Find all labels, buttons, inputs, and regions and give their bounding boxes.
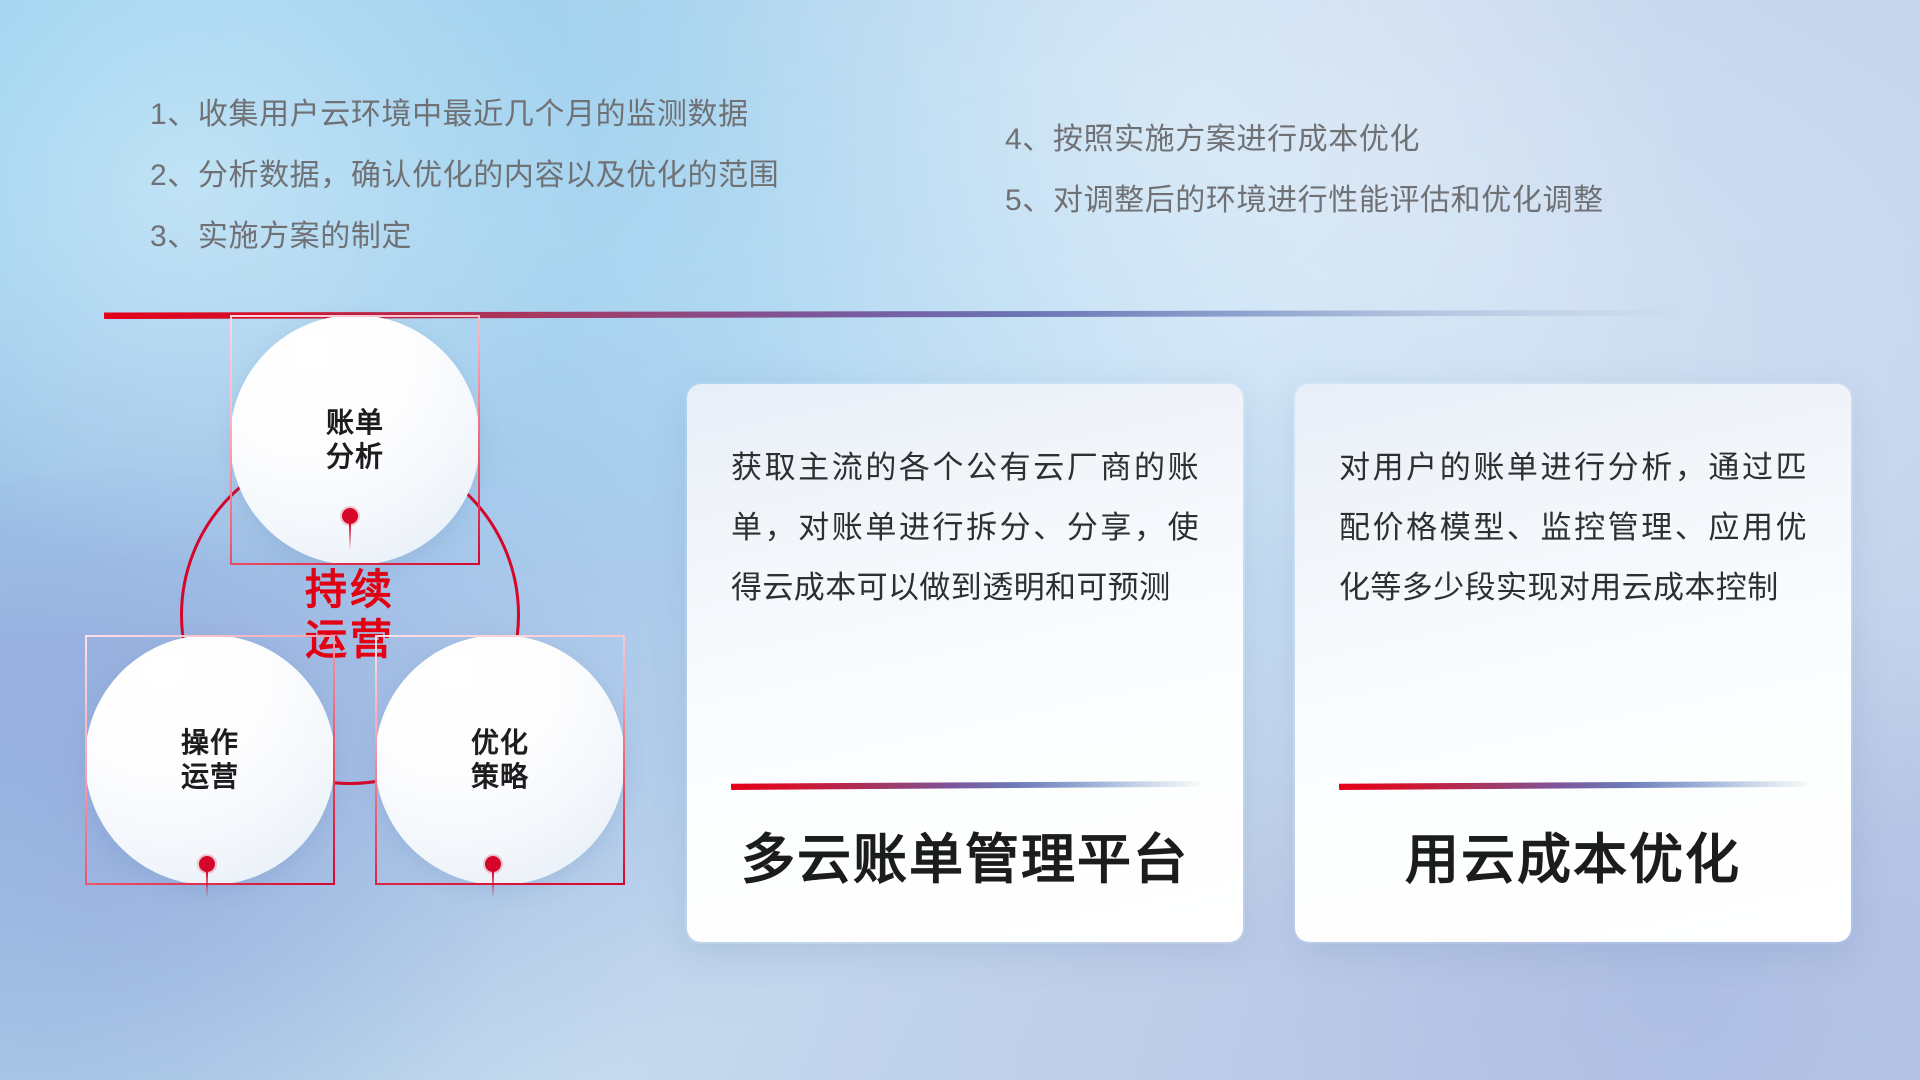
continuous-operation-diagram: 持续 运营 账单 分析 操作 运营 优化 策略: [95, 340, 655, 960]
info-card-multicloud-billing[interactable]: 获取主流的各个公有云厂商的账单，对账单进行拆分、分享，使得云成本可以做到透明和可…: [685, 382, 1245, 944]
node-marker-dot-top: [342, 508, 358, 524]
node-bubble-billing-analysis-line-2: 分析: [326, 440, 384, 474]
info-card-cost-optimization-body: 对用户的账单进行分析，通过匹配价格模型、监控管理、应用优化等多少段实现对用云成本…: [1339, 438, 1807, 617]
info-card-multicloud-billing-body: 获取主流的各个公有云厂商的账单，对账单进行拆分、分享，使得云成本可以做到透明和可…: [731, 438, 1199, 617]
node-bubble-operations-line-1: 操作: [181, 726, 239, 760]
node-bubble-optimization-strategy-line-1: 优化: [471, 726, 529, 760]
step-item-1: 1、收集用户云环境中最近几个月的监测数据: [150, 100, 779, 130]
node-bubble-optimization-strategy-line-2: 策略: [471, 760, 529, 794]
step-item-2: 2、分析数据，确认优化的内容以及优化的范围: [150, 161, 779, 191]
info-card-multicloud-billing-accent: [731, 781, 1205, 790]
info-card-cost-optimization-accent: [1339, 781, 1813, 790]
node-bubble-optimization-strategy[interactable]: 优化 策略: [375, 635, 625, 885]
node-bubble-operations-line-2: 运营: [181, 760, 239, 794]
node-marker-tail-top: [349, 524, 351, 550]
node-marker-tail-right: [492, 872, 494, 898]
node-marker-dot-right: [485, 856, 501, 872]
slide-canvas: 1、收集用户云环境中最近几个月的监测数据 2、分析数据，确认优化的内容以及优化的…: [0, 0, 1920, 1080]
steps-list-left: 1、收集用户云环境中最近几个月的监测数据 2、分析数据，确认优化的内容以及优化的…: [150, 100, 779, 283]
step-item-3: 3、实施方案的制定: [150, 222, 779, 252]
node-bubble-billing-analysis-line-1: 账单: [326, 406, 384, 440]
node-marker-dot-left: [199, 856, 215, 872]
node-bubble-operations[interactable]: 操作 运营: [85, 635, 335, 885]
info-card-multicloud-billing-title: 多云账单管理平台: [687, 815, 1243, 894]
info-card-cost-optimization[interactable]: 对用户的账单进行分析，通过匹配价格模型、监控管理、应用优化等多少段实现对用云成本…: [1293, 382, 1853, 944]
step-item-4: 4、按照实施方案进行成本优化: [1005, 125, 1604, 155]
step-item-5: 5、对调整后的环境进行性能评估和优化调整: [1005, 186, 1604, 216]
node-bubble-billing-analysis[interactable]: 账单 分析: [230, 315, 480, 565]
node-marker-tail-left: [206, 872, 208, 898]
steps-list-right: 4、按照实施方案进行成本优化 5、对调整后的环境进行性能评估和优化调整: [1005, 125, 1604, 247]
info-card-cost-optimization-title: 用云成本优化: [1295, 815, 1851, 894]
center-label-line-1: 持续: [305, 565, 395, 615]
center-label-line-2: 运营: [305, 615, 395, 665]
